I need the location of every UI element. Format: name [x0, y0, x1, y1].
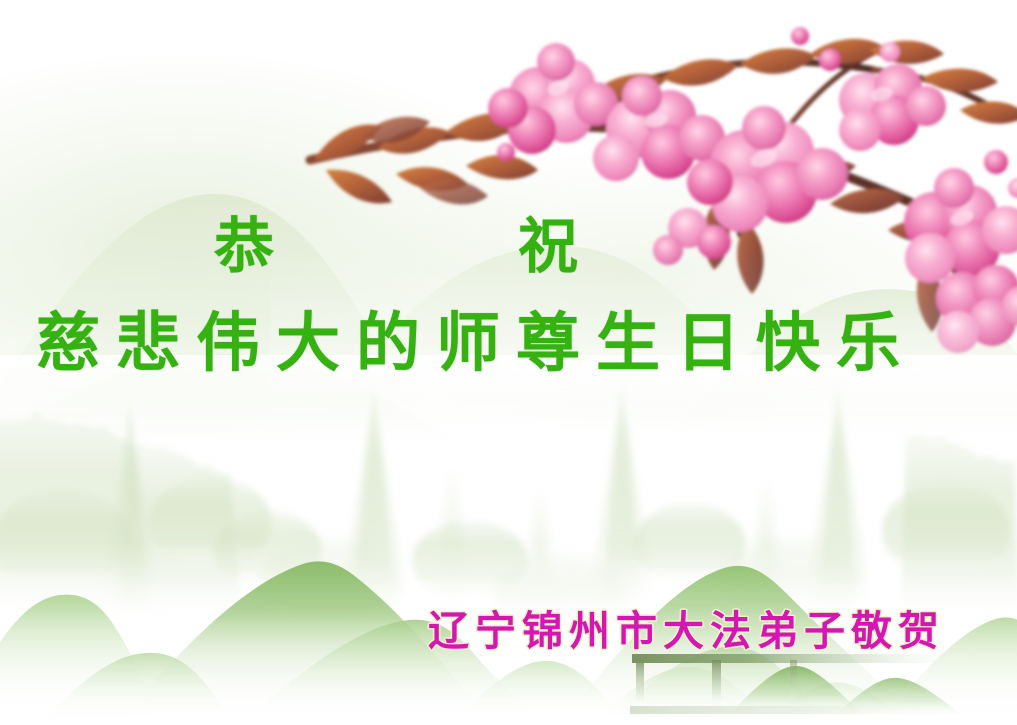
misty-forest-layer	[0, 355, 1017, 630]
signature-line: 辽宁锦州市大法弟子敬贺	[428, 597, 945, 657]
greeting-card: 恭 祝 慈悲伟大的师尊生日快乐 辽宁锦州市大法弟子敬贺	[0, 0, 1017, 725]
greeting-line-primary: 恭 祝	[214, 198, 670, 285]
greeting-line-main: 慈悲伟大的师尊生日快乐	[36, 292, 916, 384]
